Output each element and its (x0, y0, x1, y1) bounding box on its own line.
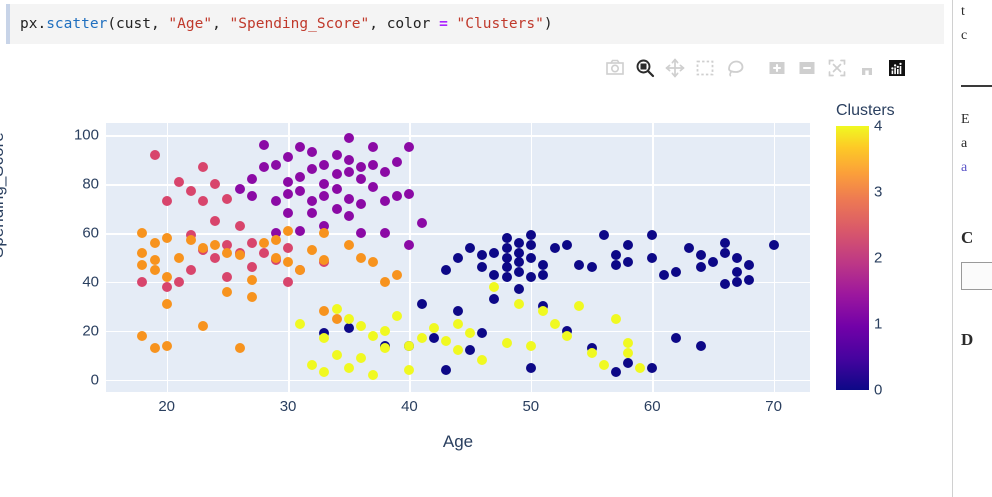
colorbar-tick-label: 0 (874, 382, 882, 399)
scatter-point[interactable] (720, 279, 730, 289)
scatter-point[interactable] (162, 272, 172, 282)
right-pane-rule (961, 85, 992, 87)
scatter-point[interactable] (295, 186, 305, 196)
scatter-point[interactable] (392, 157, 402, 167)
scatter-point[interactable] (587, 348, 597, 358)
scatter-point[interactable] (283, 208, 293, 218)
scatter-point[interactable] (635, 363, 645, 373)
scatter-point[interactable] (599, 360, 609, 370)
scatter-point[interactable] (344, 323, 354, 333)
scatter-point[interactable] (562, 240, 572, 250)
scatter-point[interactable] (198, 196, 208, 206)
scatter-point[interactable] (162, 196, 172, 206)
scatter-point[interactable] (380, 228, 390, 238)
scatter-point[interactable] (744, 260, 754, 270)
scatter-point[interactable] (404, 142, 414, 152)
scatter-point[interactable] (247, 262, 257, 272)
scatter-point[interactable] (295, 142, 305, 152)
colorbar-tick-label: 3 (874, 184, 882, 201)
scatter-point[interactable] (186, 186, 196, 196)
scatter-point[interactable] (647, 230, 657, 240)
scatter-point[interactable] (344, 155, 354, 165)
scatter-point[interactable] (720, 248, 730, 258)
scatter-point[interactable] (356, 228, 366, 238)
scatter-point[interactable] (319, 179, 329, 189)
scatter-point[interactable] (465, 345, 475, 355)
scatter-point[interactable] (319, 160, 329, 170)
scatter-point[interactable] (441, 365, 451, 375)
scatter-point[interactable] (319, 367, 329, 377)
scatter-point[interactable] (344, 240, 354, 250)
code-token: scatter (46, 16, 107, 32)
scatter-point[interactable] (477, 355, 487, 365)
scatter-point[interactable] (332, 314, 342, 324)
scatter-point[interactable] (526, 341, 536, 351)
scatter-point[interactable] (441, 265, 451, 275)
code-token: "Clusters" (457, 16, 544, 32)
code-token: ) (544, 16, 553, 32)
scatter-point[interactable] (611, 260, 621, 270)
scatter-point[interactable] (368, 160, 378, 170)
scatter-point[interactable] (684, 243, 694, 253)
code-cell[interactable]: px.scatter(cust, "Age", "Spending_Score"… (6, 4, 944, 44)
scatter-point[interactable] (732, 267, 742, 277)
y-tick-label: 100 (74, 127, 99, 144)
code-token: "Spending_Score" (230, 16, 370, 32)
scatter-point[interactable] (744, 275, 754, 285)
scatter-point[interactable] (526, 363, 536, 373)
scatter-point[interactable] (307, 196, 317, 206)
scatter-point[interactable] (477, 250, 487, 260)
plotly-figure: Spending_Score 020406080100 203040506070… (0, 84, 952, 484)
scatter-point[interactable] (574, 260, 584, 270)
code-token: = (439, 16, 448, 32)
scatter-point[interactable] (404, 365, 414, 375)
y-tick-label: 0 (91, 371, 99, 388)
scatter-point[interactable] (319, 255, 329, 265)
scatter-point[interactable] (550, 319, 560, 329)
autoscale-icon[interactable] (822, 55, 852, 81)
scatter-point[interactable] (380, 277, 390, 287)
y-axis-title: Spending_Score (0, 132, 8, 258)
scatter-point[interactable] (538, 306, 548, 316)
scatter-point[interactable] (332, 204, 342, 214)
scatter-point[interactable] (210, 253, 220, 263)
colorbar-tick-label: 4 (874, 118, 882, 135)
scatter-point[interactable] (247, 292, 257, 302)
scatter-point[interactable] (453, 319, 463, 329)
scatter-point[interactable] (344, 194, 354, 204)
scatter-point[interactable] (623, 358, 633, 368)
scatter-point[interactable] (514, 284, 524, 294)
scatter-point[interactable] (623, 240, 633, 250)
scatter-point[interactable] (295, 265, 305, 275)
x-tick-label: 20 (158, 398, 175, 415)
scatter-point[interactable] (259, 140, 269, 150)
scatter-point[interactable] (235, 343, 245, 353)
scatter-point[interactable] (368, 331, 378, 341)
scatter-point[interactable] (344, 167, 354, 177)
colorbar-tick-label: 1 (874, 316, 882, 333)
scatter-point[interactable] (720, 238, 730, 248)
scatter-point[interactable] (186, 265, 196, 275)
scatter-point[interactable] (332, 184, 342, 194)
scatter-point[interactable] (319, 228, 329, 238)
scatter-point[interactable] (489, 294, 499, 304)
scatter-point[interactable] (198, 162, 208, 172)
scatter-point[interactable] (344, 314, 354, 324)
scatter-point[interactable] (150, 265, 160, 275)
scatter-point[interactable] (368, 182, 378, 192)
scatter-point[interactable] (271, 235, 281, 245)
scatter-point[interactable] (307, 360, 317, 370)
scatter-point[interactable] (137, 331, 147, 341)
scatter-point[interactable] (283, 257, 293, 267)
scatter-point[interactable] (198, 243, 208, 253)
right-pane-text: t (961, 4, 965, 20)
scatter-point[interactable] (477, 328, 487, 338)
scatter-point[interactable] (404, 189, 414, 199)
scatter-point[interactable] (623, 257, 633, 267)
scatter-point[interactable] (611, 250, 621, 260)
scatter-point[interactable] (417, 333, 427, 343)
plotly-logo-icon[interactable] (882, 55, 912, 81)
right-pane-text: D (961, 330, 973, 350)
scatter-point[interactable] (210, 179, 220, 189)
scatter-point[interactable] (538, 260, 548, 270)
scatter-point[interactable] (429, 333, 439, 343)
scatter-point[interactable] (356, 162, 366, 172)
right-pane-text: c (961, 28, 967, 44)
scatter-point[interactable] (150, 150, 160, 160)
scatter-point[interactable] (514, 248, 524, 258)
scatter-point[interactable] (137, 277, 147, 287)
notebook-cell: px.scatter(cust, "Age", "Spending_Score"… (0, 0, 952, 48)
scatter-point[interactable] (489, 270, 499, 280)
right-pane-text: C (961, 228, 973, 248)
scatter-point[interactable] (392, 191, 402, 201)
scatter-point[interactable] (708, 257, 718, 267)
right-pane-text: a (961, 160, 967, 176)
scatter-point[interactable] (732, 277, 742, 287)
scatter-point[interactable] (222, 194, 232, 204)
scatter-point[interactable] (271, 160, 281, 170)
scatter-point[interactable] (174, 253, 184, 263)
lasso-select-icon[interactable] (720, 55, 750, 81)
pan-arrows-icon[interactable] (660, 55, 690, 81)
x-axis-title: Age (106, 432, 810, 452)
scatter-point[interactable] (150, 238, 160, 248)
scatter-point[interactable] (429, 323, 439, 333)
right-pane-input-box[interactable] (961, 262, 992, 290)
scatter-point[interactable] (356, 174, 366, 184)
scatter-point[interactable] (162, 233, 172, 243)
scatter-point[interactable] (307, 164, 317, 174)
scatter-point[interactable] (489, 248, 499, 258)
scatter-point[interactable] (150, 343, 160, 353)
code-token: , color (369, 16, 439, 32)
scatter-point[interactable] (380, 326, 390, 336)
scatter-point[interactable] (283, 177, 293, 187)
code-token: , (212, 16, 229, 32)
x-axis-ticks: 203040506070 (106, 398, 810, 420)
scatter-point[interactable] (210, 216, 220, 226)
scatter-point[interactable] (344, 363, 354, 373)
code-token: px. (20, 16, 46, 32)
scatter-point[interactable] (392, 270, 402, 280)
scatter-point[interactable] (562, 331, 572, 341)
scatter-point[interactable] (210, 240, 220, 250)
scatter-point[interactable] (222, 287, 232, 297)
scatter-point[interactable] (574, 301, 584, 311)
scatter-point[interactable] (259, 238, 269, 248)
scatter-point[interactable] (550, 243, 560, 253)
colorbar-tick-label: 2 (874, 250, 882, 267)
scatter-point[interactable] (235, 184, 245, 194)
scatter-point[interactable] (599, 230, 609, 240)
gridline-horizontal (106, 233, 810, 235)
scatter-point[interactable] (502, 253, 512, 263)
scatter-point[interactable] (162, 299, 172, 309)
scatter-point[interactable] (453, 306, 463, 316)
scatter-point[interactable] (307, 147, 317, 157)
zoom-out-minus-icon[interactable] (792, 55, 822, 81)
gridline-horizontal (106, 282, 810, 284)
scatter-point[interactable] (271, 196, 281, 206)
zoom-in-plus-icon[interactable] (762, 55, 792, 81)
scatter-point[interactable] (332, 350, 342, 360)
scatter-point[interactable] (283, 152, 293, 162)
scatter-point[interactable] (623, 338, 633, 348)
right-pane-text: E (961, 112, 970, 128)
gridline-vertical (774, 123, 776, 392)
scatter-point[interactable] (671, 267, 681, 277)
scatter-point[interactable] (514, 238, 524, 248)
gridline-horizontal (106, 331, 810, 333)
scatter-point[interactable] (247, 174, 257, 184)
scatter-point[interactable] (247, 191, 257, 201)
gridline-vertical (167, 123, 169, 392)
scatter-point[interactable] (514, 257, 524, 267)
scatter-point[interactable] (611, 314, 621, 324)
scatter-point[interactable] (162, 282, 172, 292)
scatter-point[interactable] (137, 260, 147, 270)
scatter-point[interactable] (380, 343, 390, 353)
scatter-point[interactable] (344, 133, 354, 143)
right-pane-text: a (961, 136, 967, 152)
scatter-point[interactable] (356, 353, 366, 363)
box-select-icon[interactable] (690, 55, 720, 81)
plotly-modebar[interactable] (600, 54, 930, 82)
scatter-point[interactable] (623, 348, 633, 358)
scatter-point[interactable] (235, 221, 245, 231)
scatter-point[interactable] (477, 262, 487, 272)
scatter-point[interactable] (307, 208, 317, 218)
scatter-point[interactable] (283, 277, 293, 287)
code-line[interactable]: px.scatter(cust, "Age", "Spending_Score"… (10, 16, 553, 32)
scatter-point[interactable] (174, 177, 184, 187)
scatter-point[interactable] (332, 304, 342, 314)
scatter-point[interactable] (295, 319, 305, 329)
scatter-point[interactable] (283, 189, 293, 199)
scatter-point[interactable] (186, 235, 196, 245)
scatter-point[interactable] (769, 240, 779, 250)
scatter-point[interactable] (368, 370, 378, 380)
scatter-point[interactable] (295, 226, 305, 236)
scatter-point[interactable] (319, 191, 329, 201)
code-token: (cust, (107, 16, 168, 32)
scatter-point[interactable] (696, 262, 706, 272)
scatter-point[interactable] (404, 240, 414, 250)
scatter-point[interactable] (307, 245, 317, 255)
code-token: "Age" (168, 16, 212, 32)
scatter-point[interactable] (162, 341, 172, 351)
scatter-point[interactable] (137, 228, 147, 238)
gridline-vertical (409, 123, 411, 392)
colorbar-title: Clusters (836, 102, 895, 120)
scatter-point[interactable] (380, 196, 390, 206)
scatter-point[interactable] (417, 218, 427, 228)
scatter-point[interactable] (659, 270, 669, 280)
scatter-point[interactable] (696, 250, 706, 260)
plot-area[interactable] (106, 123, 810, 392)
scatter-point[interactable] (247, 275, 257, 285)
scatter-point[interactable] (526, 240, 536, 250)
scatter-point[interactable] (611, 367, 621, 377)
y-tick-label: 40 (82, 273, 99, 290)
scatter-point[interactable] (502, 233, 512, 243)
scatter-point[interactable] (235, 250, 245, 260)
x-tick-label: 30 (280, 398, 297, 415)
scatter-point[interactable] (247, 238, 257, 248)
scatter-point[interactable] (526, 230, 536, 240)
scatter-point[interactable] (465, 243, 475, 253)
scatter-point[interactable] (587, 262, 597, 272)
scatter-point[interactable] (526, 272, 536, 282)
y-axis-ticks: 020406080100 (56, 123, 99, 392)
scatter-point[interactable] (502, 272, 512, 282)
scatter-point[interactable] (696, 341, 706, 351)
scatter-point[interactable] (150, 255, 160, 265)
scatter-point[interactable] (368, 142, 378, 152)
scatter-point[interactable] (319, 306, 329, 316)
scatter-point[interactable] (489, 282, 499, 292)
scatter-point[interactable] (502, 338, 512, 348)
right-side-pane: tcEaaCD (952, 0, 992, 497)
x-tick-label: 70 (765, 398, 782, 415)
zoom-magnifier-icon[interactable] (630, 55, 660, 81)
scatter-point[interactable] (732, 253, 742, 263)
y-tick-label: 80 (82, 176, 99, 193)
y-tick-label: 20 (82, 322, 99, 339)
scatter-point[interactable] (502, 243, 512, 253)
scatter-point[interactable] (137, 248, 147, 258)
scatter-point[interactable] (295, 172, 305, 182)
scatter-point[interactable] (283, 226, 293, 236)
scatter-point[interactable] (453, 253, 463, 263)
scatter-point[interactable] (344, 211, 354, 221)
scatter-point[interactable] (356, 321, 366, 331)
scatter-point[interactable] (671, 333, 681, 343)
scatter-point[interactable] (380, 167, 390, 177)
scatter-point[interactable] (259, 248, 269, 258)
scatter-point[interactable] (502, 262, 512, 272)
scatter-point[interactable] (356, 199, 366, 209)
scatter-point[interactable] (465, 328, 475, 338)
x-tick-label: 60 (644, 398, 661, 415)
gridline-horizontal (106, 135, 810, 137)
download-plot-camera-icon[interactable] (600, 55, 630, 81)
scatter-point[interactable] (271, 253, 281, 263)
scatter-point[interactable] (332, 150, 342, 160)
gridline-horizontal (106, 380, 810, 382)
scatter-point[interactable] (526, 253, 536, 263)
scatter-point[interactable] (259, 162, 269, 172)
x-tick-label: 40 (401, 398, 418, 415)
scatter-point[interactable] (538, 270, 548, 280)
scatter-point[interactable] (514, 299, 524, 309)
scatter-point[interactable] (453, 345, 463, 355)
scatter-point[interactable] (404, 341, 414, 351)
scatter-point[interactable] (514, 267, 524, 277)
scatter-point[interactable] (368, 257, 378, 267)
colorbar-gradient (836, 126, 869, 390)
y-tick-label: 60 (82, 225, 99, 242)
scatter-point[interactable] (647, 363, 657, 373)
scatter-point[interactable] (392, 311, 402, 321)
code-token (448, 16, 457, 32)
scatter-point[interactable] (174, 277, 184, 287)
colorbar: Clusters 01234 (836, 123, 946, 403)
scatter-point[interactable] (198, 321, 208, 331)
scatter-point[interactable] (283, 243, 293, 253)
scatter-point[interactable] (222, 272, 232, 282)
x-tick-label: 50 (522, 398, 539, 415)
reset-axes-home-icon[interactable] (852, 55, 882, 81)
scatter-point[interactable] (417, 299, 427, 309)
scatter-point[interactable] (441, 336, 451, 346)
scatter-point[interactable] (332, 169, 342, 179)
scatter-point[interactable] (222, 248, 232, 258)
scatter-point[interactable] (319, 333, 329, 343)
scatter-point[interactable] (647, 253, 657, 263)
scatter-point[interactable] (356, 253, 366, 263)
